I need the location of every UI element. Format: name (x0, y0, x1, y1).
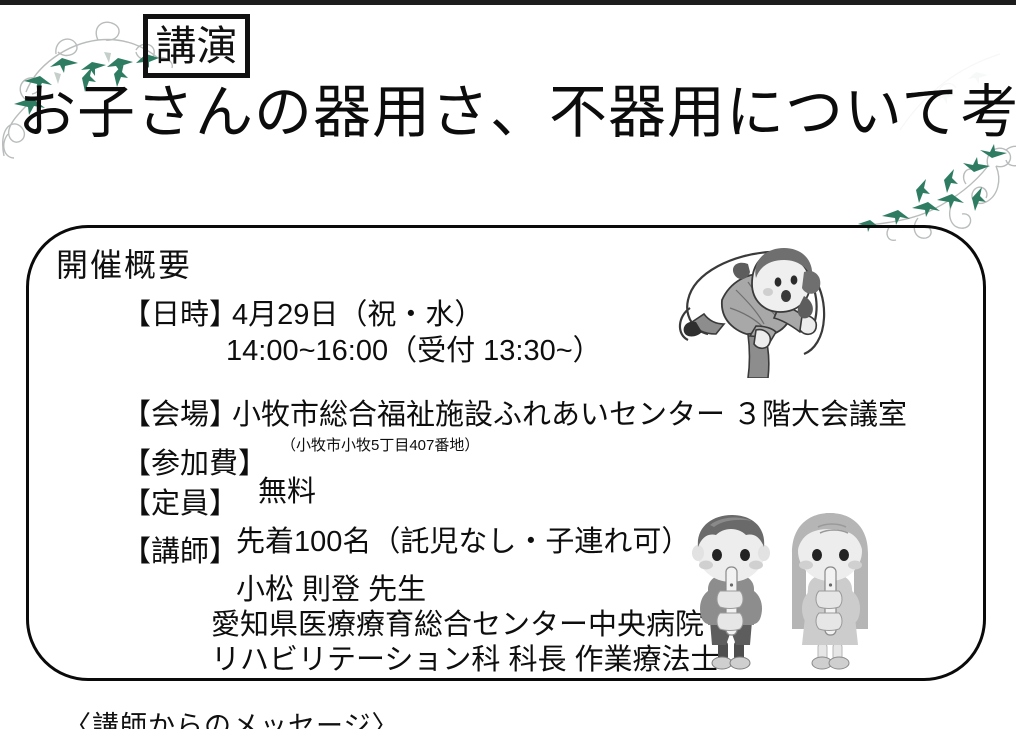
value-fee: 無料 (258, 468, 316, 510)
label-venue: 【会場】 (122, 391, 238, 433)
value-capacity: 先着100名（託児なし・子連れ可） (236, 518, 690, 560)
lecture-badge: 講演 (143, 14, 250, 78)
page-title: お子さんの器用さ、不器用について考える (18, 82, 1008, 145)
label-datetime: 【日時】 (122, 291, 238, 333)
label-lecturer: 【講師】 (122, 528, 238, 570)
value-venue-address: （小牧市小牧5丁目407番地） (281, 434, 479, 455)
top-edge-strip (0, 0, 1016, 5)
two-children-playing-recorders-illustration (668, 505, 888, 680)
section-heading-overview: 開催概要 (56, 240, 192, 286)
value-venue: 小牧市総合福祉施設ふれあいセンター ３階大会議室 (232, 391, 907, 433)
label-capacity: 【定員】 (122, 480, 238, 522)
lecture-badge-label: 講演 (156, 26, 238, 67)
message-from-lecturer-heading: 〈講師からのメッセージ〉 (64, 704, 399, 729)
value-lecturer-title: リハビリテーション科 科長 作業療法士 (211, 636, 720, 678)
label-fee: 【参加費】 (122, 440, 267, 482)
value-datetime-time: 14:00~16:00（受付 13:30~） (226, 327, 602, 369)
flyer-page: 講演 お子さんの器用さ、不器用について考える 開催概要 【日時】 4月29日（祝… (0, 0, 1016, 729)
child-jumping-rope-illustration (652, 238, 844, 378)
